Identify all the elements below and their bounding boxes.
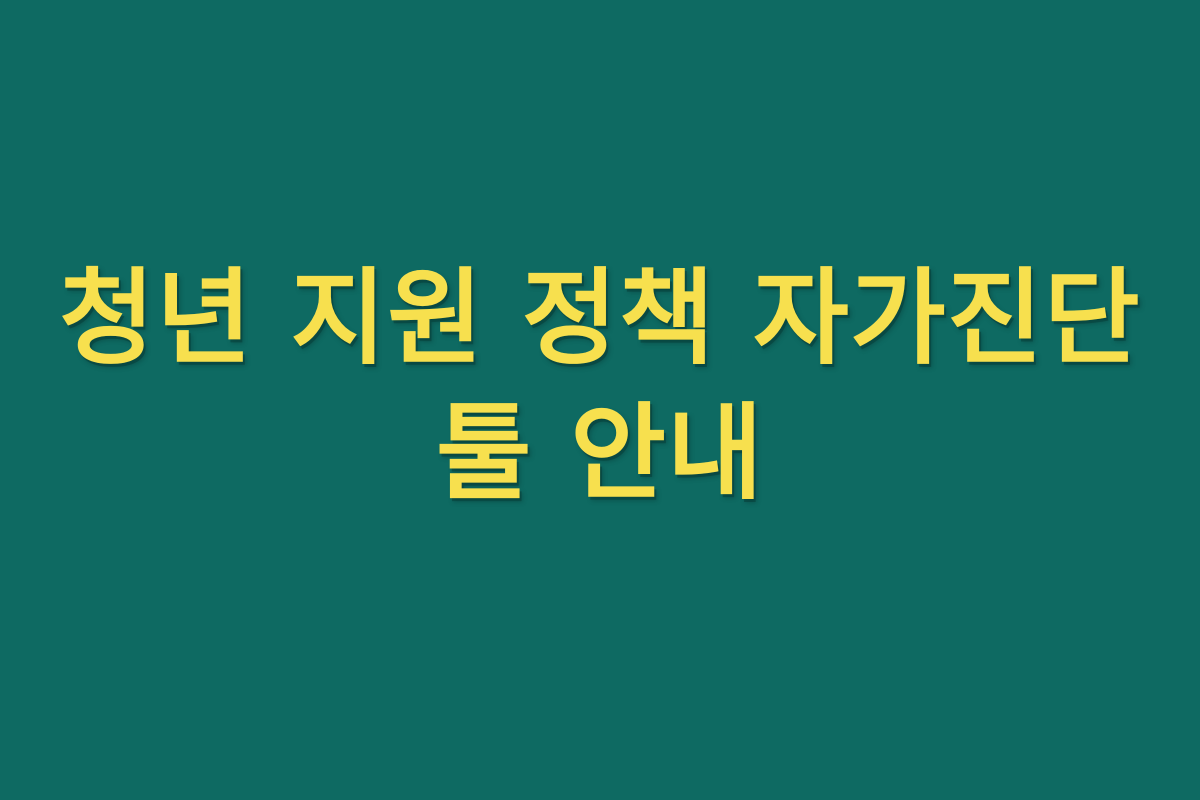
page-title: 청년 지원 정책 자가진단 툴 안내 [50, 251, 1150, 521]
page-title-line-2: 툴 안내 [436, 386, 764, 521]
title-banner-card: 청년 지원 정책 자가진단 툴 안내 [0, 0, 1200, 800]
page-title-line-1: 청년 지원 정책 자가진단 [59, 251, 1141, 386]
